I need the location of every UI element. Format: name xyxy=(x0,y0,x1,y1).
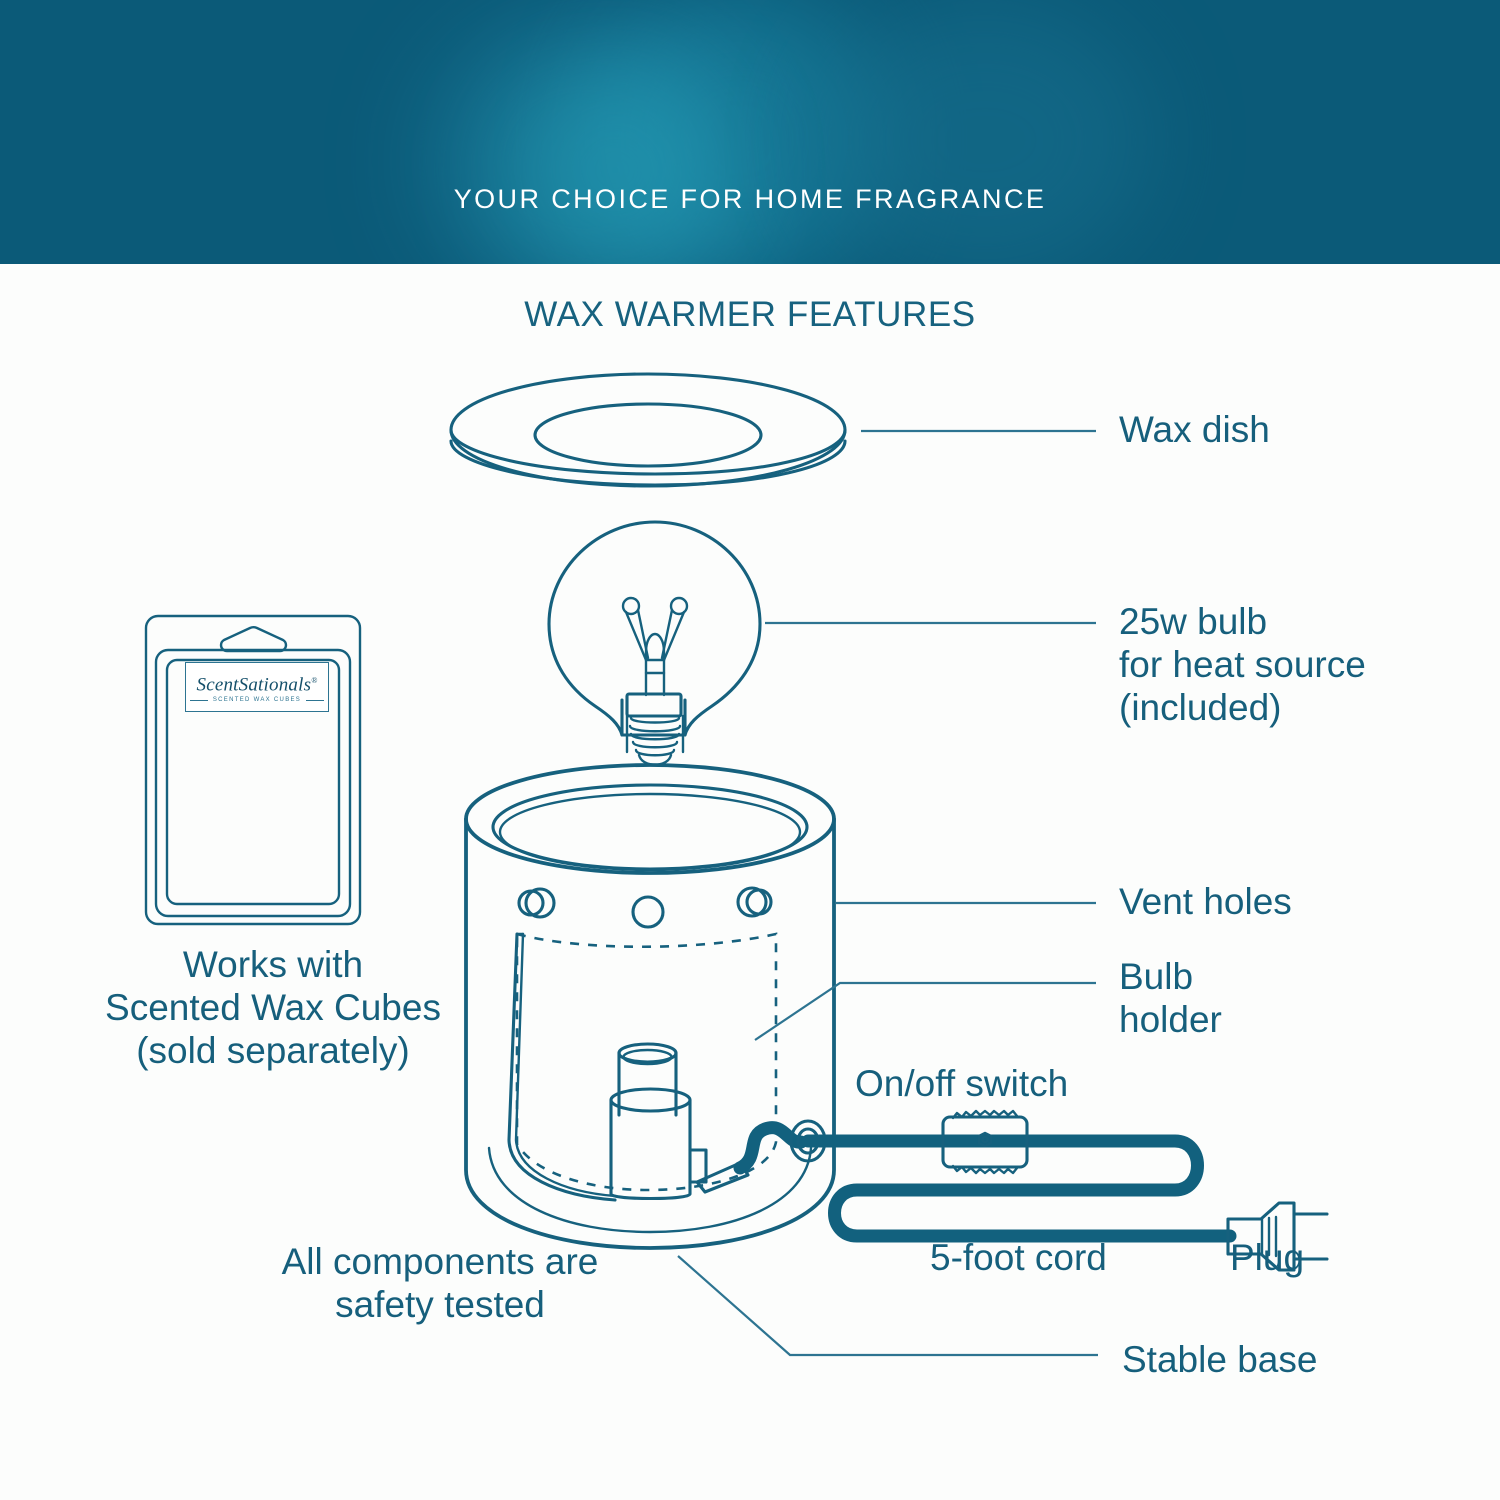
package-caption: Works with Scented Wax Cubes (sold separ… xyxy=(58,943,488,1072)
rule-left-decoration xyxy=(190,700,208,701)
label-bulb-holder-line2: holder xyxy=(1119,998,1222,1041)
label-on-off-switch: On/off switch xyxy=(855,1062,1068,1105)
label-bulb: 25w bulb for heat source (included) xyxy=(1119,600,1366,729)
package-subtitle: SCENTED WAX CUBES xyxy=(190,697,324,703)
label-plug: Plug xyxy=(1230,1236,1304,1279)
safety-note: All components are safety tested xyxy=(240,1240,640,1326)
label-wax-dish: Wax dish xyxy=(1119,408,1270,451)
label-bulb-holder-line1: Bulb xyxy=(1119,955,1222,998)
power-cord-illustration xyxy=(808,1141,1230,1236)
vent-holes-group xyxy=(519,888,771,927)
label-bulb-line2: for heat source xyxy=(1119,643,1366,686)
package-brand-name: ScentSationals® xyxy=(197,671,318,694)
package-caption-line1: Works with xyxy=(58,943,488,986)
label-bulb-holder: Bulb holder xyxy=(1119,955,1222,1041)
safety-note-line2: safety tested xyxy=(240,1283,640,1326)
wax-dish-illustration xyxy=(451,374,845,486)
package-logo: ScentSationals® SCENTED WAX CUBES xyxy=(185,662,329,712)
infographic-page: YOUR CHOICE FOR HOME FRAGRANCE WAX WARME… xyxy=(0,0,1500,1500)
label-vent-holes: Vent holes xyxy=(1119,880,1292,923)
warmer-body-illustration xyxy=(466,765,834,1248)
bulb-holder-illustration xyxy=(611,1044,748,1199)
safety-note-line1: All components are xyxy=(240,1240,640,1283)
package-caption-line2: Scented Wax Cubes xyxy=(58,986,488,1029)
rule-right-decoration xyxy=(306,700,324,701)
label-cord: 5-foot cord xyxy=(930,1236,1107,1279)
label-stable-base: Stable base xyxy=(1122,1338,1317,1381)
leader-line-bulb-holder xyxy=(755,983,1096,1040)
label-bulb-line1: 25w bulb xyxy=(1119,600,1366,643)
light-bulb-illustration xyxy=(549,522,760,765)
registered-trademark-icon: ® xyxy=(311,676,317,685)
label-bulb-line3: (included) xyxy=(1119,686,1366,729)
package-caption-line3: (sold separately) xyxy=(58,1029,488,1072)
